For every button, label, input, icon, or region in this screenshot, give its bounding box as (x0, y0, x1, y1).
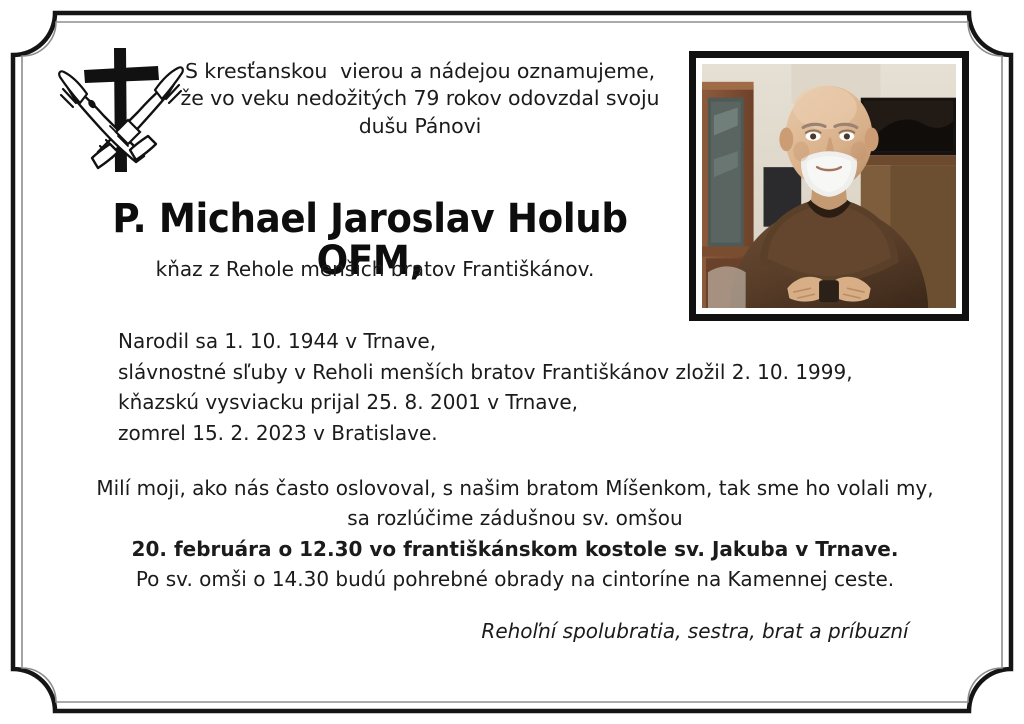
header-line-2: že vo veku nedožitých 79 rokov odovzdal … (180, 85, 660, 112)
biography-line-3: kňazskú vysviacku prijal 25. 8. 2001 v T… (118, 387, 908, 418)
farewell-line-2: sa rozlúčime zádušnou sv. omšou (70, 503, 960, 533)
biography-line-1: Narodil sa 1. 10. 1944 v Trnave, (118, 326, 908, 357)
header-line-1: S kresťanskou vierou a nádejou oznamujem… (180, 58, 660, 85)
header-line-3: dušu Pánovi (180, 113, 660, 140)
farewell-line-1: Milí moji, ako nás často oslovoval, s na… (70, 473, 960, 503)
funeral-announcement-card: S kresťanskou vierou a nádejou oznamujem… (0, 0, 1024, 724)
funeral-service-details: 20. februára o 12.30 vo františkánskom k… (70, 534, 960, 564)
cross-horizontal-beam (84, 66, 159, 83)
deceased-role: kňaz z Rehole menších bratov Františkáno… (30, 257, 720, 281)
franciscan-crossed-arms-emblem-icon (58, 40, 186, 180)
biography-line-2: slávnostné sľuby v Reholi menších bratov… (118, 357, 908, 388)
portrait-photo (702, 64, 956, 308)
biography-line-4: zomrel 15. 2. 2023 v Bratislave. (118, 418, 908, 449)
signature-line: Rehoľní spolubratia, sestra, brat a príb… (450, 619, 940, 643)
card-content: S kresťanskou vierou a nádejou oznamujem… (30, 28, 994, 696)
burial-details: Po sv. omši o 14.30 budú pohrebné obrady… (70, 564, 960, 594)
farewell-block: Milí moji, ako nás často oslovoval, s na… (70, 473, 960, 595)
biography-block: Narodil sa 1. 10. 1944 v Trnave, slávnos… (118, 326, 908, 448)
portrait-photo-frame (689, 51, 969, 321)
announcement-header: S kresťanskou vierou a nádejou oznamujem… (180, 58, 660, 140)
portrait-photo-mat (696, 58, 962, 314)
